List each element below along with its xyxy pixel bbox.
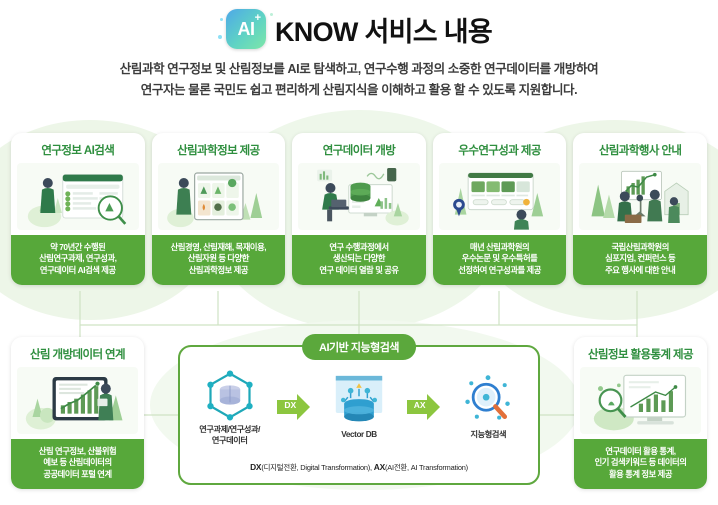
pipeline-node-label: Vector DB bbox=[319, 430, 398, 441]
card-title: 연구데이터 개방 bbox=[292, 133, 426, 163]
footnote-ax-text: (AI전환, AI Transformation) bbox=[385, 463, 468, 472]
card-desc-line-3: 산림과학정보 제공 bbox=[156, 265, 282, 277]
database-vector-icon bbox=[319, 372, 398, 428]
card-title: 산림정보 활용통계 제공 bbox=[574, 337, 707, 367]
card-desc-line-2: 산림연구과제, 연구성과, bbox=[15, 253, 141, 265]
card-desc-line-3: 공공데이터 포털 연계 bbox=[15, 469, 140, 481]
pipeline-node-label: 연구과제/연구성과/ 연구데이터 bbox=[190, 425, 269, 446]
person-searching-portal-illustration bbox=[17, 163, 139, 230]
card-description: 산림 연구정보, 산불위험 예보 등 산림데이터의 공공데이터 포털 연계 bbox=[11, 439, 144, 489]
pipeline-label-line-1: Vector DB bbox=[319, 430, 398, 441]
logo-ai-text: AI bbox=[238, 20, 255, 38]
dx-arrow: DX bbox=[275, 392, 313, 422]
pipeline-node-vector-db[interactable]: Vector DB bbox=[319, 372, 398, 441]
page-title: KNOW 서비스 내용 bbox=[275, 10, 492, 49]
ax-arrow: AX bbox=[405, 392, 443, 422]
magnifier-ai-icon bbox=[449, 372, 528, 428]
page-subtitle: 산림과학 연구정보 및 산림정보를 AI로 탐색하고, 연구수행 과정의 소중한… bbox=[0, 59, 718, 100]
card-description: 연구 수행과정에서 생산되는 다양한 연구 데이터 열람 및 공유 bbox=[292, 235, 426, 285]
service-card-forest-info[interactable]: 산림과학정보 제공 bbox=[152, 133, 286, 285]
logo-plus-text: + bbox=[255, 13, 261, 24]
ai-pipeline: 연구과제/연구성과/ 연구데이터 DX bbox=[180, 347, 538, 446]
card-desc-line-2: 생산되는 다양한 bbox=[296, 253, 422, 265]
card-description: 연구데이터 활용 통계, 인기 검색키워드 등 데이터의 활용 통계 정보 제공 bbox=[574, 439, 707, 489]
ax-arrow-label: AX bbox=[405, 400, 435, 410]
footnote-ax-term: AX bbox=[374, 462, 385, 472]
infographic-page: AI + KNOW 서비스 내용 산림과학 연구정보 및 산림정보를 AI로 탐… bbox=[0, 0, 718, 505]
bottom-card-open-data-link[interactable]: 산림 개방데이터 연계 산림 연구정보, 산불위험 예보 등 산림 bbox=[11, 337, 144, 489]
footnote-dx-term: DX bbox=[250, 462, 261, 472]
pipeline-label-line-2: 연구데이터 bbox=[190, 436, 269, 447]
card-desc-line-2: 인기 검색키워드 등 데이터의 bbox=[578, 457, 703, 469]
ai-plus-logo-icon: AI + bbox=[226, 9, 266, 49]
card-desc-line-1: 매년 산림과학원의 bbox=[437, 242, 563, 254]
footnote-dx-text: (디지털전환, Digital Transformation), bbox=[261, 463, 373, 472]
subtitle-line-1: 산림과학 연구정보 및 산림정보를 AI로 탐색하고, 연구수행 과정의 소중한… bbox=[0, 59, 718, 80]
monitor-statistics-magnifier-illustration bbox=[580, 367, 701, 434]
card-title: 우수연구성과 제공 bbox=[433, 133, 567, 163]
card-desc-line-2: 예보 등 산림데이터의 bbox=[15, 457, 140, 469]
subtitle-line-2: 연구자는 물론 국민도 쉽고 편리하게 산림지식을 이해하고 활용 할 수 있도… bbox=[0, 80, 718, 101]
card-desc-line-1: 약 70년간 수행된 bbox=[15, 242, 141, 254]
card-desc-line-3: 주요 행사에 대한 안내 bbox=[577, 265, 703, 277]
card-desc-line-3: 선정하여 연구성과를 제공 bbox=[437, 265, 563, 277]
pipeline-node-smart-search[interactable]: 지능형검색 bbox=[449, 372, 528, 441]
card-description: 약 70년간 수행된 산림연구과제, 연구성과, 연구데이터 AI검색 제공 bbox=[11, 235, 145, 285]
service-card-events[interactable]: 산림과학행사 안내 bbox=[573, 133, 707, 285]
card-desc-line-2: 심포지엄, 컨퍼런스 등 bbox=[577, 253, 703, 265]
card-title: 산림과학정보 제공 bbox=[152, 133, 286, 163]
service-card-ai-search[interactable]: 연구정보 AI검색 bbox=[11, 133, 145, 285]
card-desc-line-1: 산림 연구정보, 산불위험 bbox=[15, 446, 140, 458]
card-desc-line-1: 산림경영, 산림재해, 목재이용, bbox=[156, 242, 282, 254]
dx-arrow-label: DX bbox=[275, 400, 305, 410]
pipeline-label-line-1: 연구과제/연구성과/ bbox=[190, 425, 269, 436]
card-description: 매년 산림과학원의 우수논문 및 우수특허를 선정하여 연구성과를 제공 bbox=[433, 235, 567, 285]
pipeline-node-label: 지능형검색 bbox=[449, 430, 528, 441]
service-cards-row: 연구정보 AI검색 bbox=[11, 133, 707, 285]
service-card-data-open[interactable]: 연구데이터 개방 bbox=[292, 133, 426, 285]
hexagon-data-node-icon bbox=[190, 367, 269, 423]
person-forest-catalog-illustration bbox=[158, 163, 280, 230]
card-desc-line-3: 활용 통계 정보 제공 bbox=[578, 469, 703, 481]
card-description: 산림경영, 산림재해, 목재이용, 산림자원 등 다양한 산림과학정보 제공 bbox=[152, 235, 286, 285]
ai-search-panel: AI기반 지능형검색 연구과제/연구성과/ 연구데이터 bbox=[178, 345, 540, 485]
card-desc-line-3: 연구 데이터 열람 및 공유 bbox=[296, 265, 422, 277]
researcher-database-dashboard-illustration bbox=[298, 163, 420, 230]
card-title: 산림과학행사 안내 bbox=[573, 133, 707, 163]
bottom-card-usage-statistics[interactable]: 산림정보 활용통계 제공 연구데이터 활용 통계, 인기 검색키워드 등 데이터… bbox=[574, 337, 707, 489]
tablet-growth-chart-illustration bbox=[17, 367, 138, 434]
card-desc-line-1: 국립산림과학원의 bbox=[577, 242, 703, 254]
card-desc-line-1: 연구 수행과정에서 bbox=[296, 242, 422, 254]
page-header: AI + KNOW 서비스 내용 산림과학 연구정보 및 산림정보를 AI로 탐… bbox=[0, 0, 718, 100]
pipeline-footnote: DX(디지털전환, Digital Transformation), AX(AI… bbox=[180, 462, 538, 473]
title-row: AI + KNOW 서비스 내용 bbox=[0, 9, 718, 49]
card-description: 국립산림과학원의 심포지엄, 컨퍼런스 등 주요 행사에 대한 안내 bbox=[573, 235, 707, 285]
card-desc-line-3: 연구데이터 AI검색 제공 bbox=[15, 265, 141, 277]
logo-spark-icon bbox=[270, 13, 273, 16]
card-title: 산림 개방데이터 연계 bbox=[11, 337, 144, 367]
logo-spark-icon bbox=[218, 35, 222, 39]
award-research-results-illustration bbox=[439, 163, 561, 230]
pipeline-node-research-data[interactable]: 연구과제/연구성과/ 연구데이터 bbox=[190, 367, 269, 446]
card-title: 연구정보 AI검색 bbox=[11, 133, 145, 163]
card-desc-line-2: 산림자원 등 다양한 bbox=[156, 253, 282, 265]
pipeline-label-line-1: 지능형검색 bbox=[449, 430, 528, 441]
logo-spark-icon bbox=[220, 18, 223, 21]
card-desc-line-2: 우수논문 및 우수특허를 bbox=[437, 253, 563, 265]
ai-search-badge: AI기반 지능형검색 bbox=[302, 334, 416, 360]
card-desc-line-1: 연구데이터 활용 통계, bbox=[578, 446, 703, 458]
service-card-excellent-results[interactable]: 우수연구성과 제공 bbox=[433, 133, 567, 285]
presentation-event-illustration bbox=[579, 163, 701, 230]
